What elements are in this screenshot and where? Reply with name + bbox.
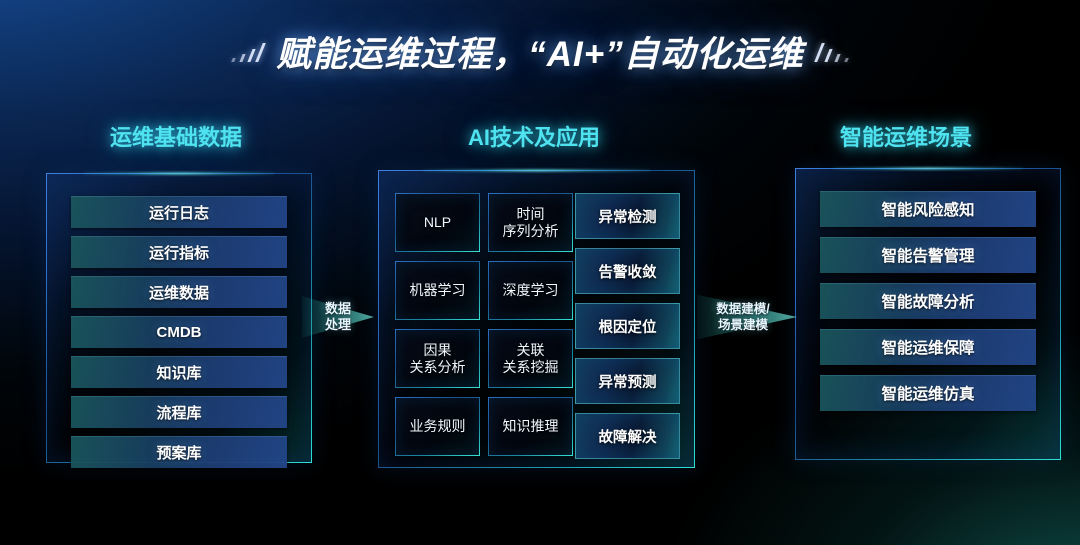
list-item[interactable]: 知识库: [71, 356, 287, 388]
list-item[interactable]: 运行日志: [71, 196, 287, 228]
arrow-label: 数据 处理: [325, 301, 351, 333]
left-item-list: 运行日志 运行指标 运维数据 CMDB 知识库 流程库 预案库: [71, 196, 287, 476]
title-right-dash-icon: [818, 38, 862, 64]
technique-line1: 关联: [517, 342, 545, 359]
list-item[interactable]: 运行指标: [71, 236, 287, 268]
technique-line1: 机器学习: [410, 282, 466, 299]
column-heading-left: 运维基础数据: [110, 120, 242, 152]
arrow-label-line1: 数据: [325, 301, 351, 316]
right-item-list: 智能风险感知 智能告警管理 智能故障分析 智能运维保障 智能运维仿真: [820, 191, 1036, 421]
slide-canvas: 赋能运维过程，“AI+”自动化运维 运维基础数据 AI技术及应用 智能运维场景 …: [0, 0, 1080, 545]
technique-line1: 业务规则: [410, 418, 466, 435]
technique-line2: 关系挖掘: [503, 359, 559, 376]
list-item[interactable]: 智能运维保障: [820, 329, 1036, 365]
column-heading-middle: AI技术及应用: [468, 120, 600, 152]
panel-smart-ops-scenarios: 智能风险感知 智能告警管理 智能故障分析 智能运维保障 智能运维仿真: [795, 168, 1061, 460]
technique-box[interactable]: 业务规则: [395, 397, 480, 456]
technique-box[interactable]: NLP: [395, 193, 480, 252]
technique-box[interactable]: 知识推理: [488, 397, 573, 456]
list-item[interactable]: 智能告警管理: [820, 237, 1036, 273]
page-title: 赋能运维过程，“AI+”自动化运维: [276, 26, 803, 77]
ai-output-list: 异常检测 告警收敛 根因定位 异常预测 故障解决: [575, 193, 680, 468]
technique-line1: 时间: [517, 206, 545, 223]
arrow-data-modeling: 数据建模/ 场景建模: [697, 286, 797, 348]
column-heading-right: 智能运维场景: [840, 120, 972, 152]
list-item[interactable]: 流程库: [71, 396, 287, 428]
list-item[interactable]: 智能运维仿真: [820, 375, 1036, 411]
output-box[interactable]: 故障解决: [575, 413, 680, 459]
title-bar: 赋能运维过程，“AI+”自动化运维: [0, 24, 1080, 78]
technique-line1: NLP: [424, 214, 451, 231]
list-item[interactable]: 智能故障分析: [820, 283, 1036, 319]
technique-box[interactable]: 因果 关系分析: [395, 329, 480, 388]
technique-box[interactable]: 深度学习: [488, 261, 573, 320]
ai-technique-grid: NLP 时间 序列分析 机器学习 深度学习 因果 关系分析 关联 关系挖掘: [395, 193, 573, 456]
title-left-dash-icon: [218, 38, 262, 64]
technique-line1: 因果: [424, 342, 452, 359]
technique-line1: 深度学习: [503, 282, 559, 299]
list-item[interactable]: CMDB: [71, 316, 287, 348]
output-box[interactable]: 异常检测: [575, 193, 680, 239]
output-box[interactable]: 告警收敛: [575, 248, 680, 294]
arrow-label-line2: 处理: [325, 317, 351, 332]
output-box[interactable]: 根因定位: [575, 303, 680, 349]
list-item[interactable]: 智能风险感知: [820, 191, 1036, 227]
panel-ai-tech: NLP 时间 序列分析 机器学习 深度学习 因果 关系分析 关联 关系挖掘: [378, 170, 695, 468]
arrow-label-line2: 场景建模: [718, 318, 768, 332]
arrow-label-line1: 数据建模/: [716, 302, 769, 316]
panel-ops-base-data: 运行日志 运行指标 运维数据 CMDB 知识库 流程库 预案库: [46, 173, 312, 463]
technique-line2: 序列分析: [503, 223, 559, 240]
list-item[interactable]: 运维数据: [71, 276, 287, 308]
technique-box[interactable]: 关联 关系挖掘: [488, 329, 573, 388]
technique-line1: 知识推理: [503, 418, 559, 435]
arrow-label: 数据建模/ 场景建模: [716, 301, 769, 333]
arrow-data-processing: 数据 处理: [302, 288, 374, 346]
list-item[interactable]: 预案库: [71, 436, 287, 468]
technique-line2: 关系分析: [410, 359, 466, 376]
output-box[interactable]: 异常预测: [575, 358, 680, 404]
technique-box[interactable]: 机器学习: [395, 261, 480, 320]
technique-box[interactable]: 时间 序列分析: [488, 193, 573, 252]
